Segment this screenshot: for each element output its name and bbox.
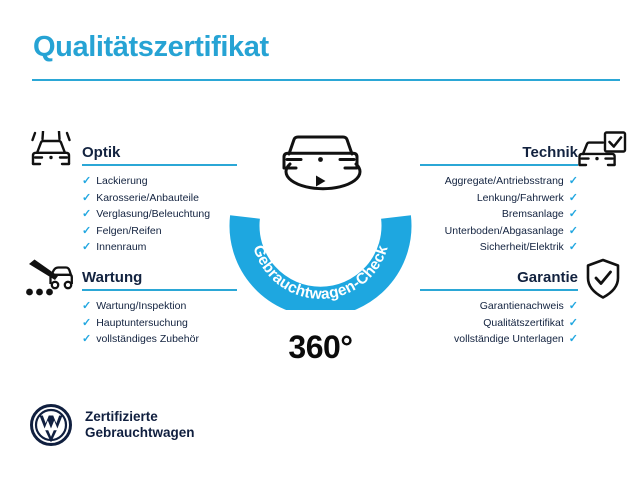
list-item: ✓Verglasung/Beleuchtung bbox=[82, 206, 237, 223]
list-item: ✓vollständige Unterlagen bbox=[420, 331, 578, 348]
check-icon: ✓ bbox=[82, 298, 91, 315]
section-wartung: Wartung ✓Wartung/Inspektion ✓Hauptunters… bbox=[82, 265, 237, 348]
section-optik-header: Optik bbox=[82, 140, 237, 166]
list-item: ✓vollständiges Zubehör bbox=[82, 331, 237, 348]
list-item: ✓Sicherheit/Elektrik bbox=[420, 239, 578, 256]
list-item-label: Wartung/Inspektion bbox=[96, 298, 186, 315]
section-garantie-list: ✓Garantienachweis ✓Qualitätszertifikat ✓… bbox=[420, 298, 578, 348]
car-lift-wrench-icon bbox=[25, 258, 73, 303]
list-item: ✓Garantienachweis bbox=[420, 298, 578, 315]
check-icon: ✓ bbox=[569, 173, 578, 190]
section-wartung-header: Wartung bbox=[82, 265, 237, 291]
section-technik-title: Technik bbox=[522, 144, 578, 161]
list-item: ✓Wartung/Inspektion bbox=[82, 298, 237, 315]
list-item-label: Sicherheit/Elektrik bbox=[480, 239, 564, 256]
section-technik-list: ✓Aggregate/Antriebsstrang ✓Lenkung/Fahrw… bbox=[420, 173, 578, 256]
list-item: ✓Karosserie/Anbauteile bbox=[82, 190, 237, 207]
check-icon: ✓ bbox=[82, 223, 91, 240]
list-item-label: Aggregate/Antriebsstrang bbox=[445, 173, 564, 190]
list-item: ✓Unterboden/Abgasanlage bbox=[420, 223, 578, 240]
check-icon: ✓ bbox=[82, 206, 91, 223]
check-icon: ✓ bbox=[569, 298, 578, 315]
list-item: ✓Hauptuntersuchung bbox=[82, 315, 237, 332]
check-icon: ✓ bbox=[569, 239, 578, 256]
check-icon: ✓ bbox=[82, 173, 91, 190]
section-wartung-divider bbox=[82, 289, 237, 291]
check-icon: ✓ bbox=[82, 315, 91, 332]
section-garantie-header: Garantie bbox=[420, 265, 578, 291]
section-optik-title: Optik bbox=[82, 144, 120, 161]
list-item-label: vollständige Unterlagen bbox=[454, 331, 564, 348]
section-technik-divider bbox=[420, 164, 578, 166]
list-item-label: Innenraum bbox=[96, 239, 146, 256]
shield-check-icon bbox=[585, 258, 621, 305]
check-icon: ✓ bbox=[569, 206, 578, 223]
list-item-label: vollständiges Zubehör bbox=[96, 331, 199, 348]
list-item-label: Verglasung/Beleuchtung bbox=[96, 206, 210, 223]
list-item-label: Unterboden/Abgasanlage bbox=[445, 223, 564, 240]
check-icon: ✓ bbox=[569, 190, 578, 207]
page-title: Qualitätszertifikat bbox=[33, 33, 269, 62]
check-icon: ✓ bbox=[569, 331, 578, 348]
vw-footer-line2: Gebrauchtwagen bbox=[85, 425, 195, 441]
list-item: ✓Lackierung bbox=[82, 173, 237, 190]
check-icon: ✓ bbox=[569, 315, 578, 332]
list-item-label: Qualitätszertifikat bbox=[483, 315, 564, 332]
list-item-label: Bremsanlage bbox=[502, 206, 564, 223]
section-technik-header: Technik bbox=[420, 140, 578, 166]
vw-footer-text: Zertifizierte Gebrauchtwagen bbox=[85, 409, 195, 441]
car-checkbox-icon bbox=[577, 131, 627, 178]
check-icon: ✓ bbox=[82, 331, 91, 348]
car-shine-icon bbox=[28, 131, 74, 178]
list-item: ✓Qualitätszertifikat bbox=[420, 315, 578, 332]
list-item-label: Garantienachweis bbox=[480, 298, 564, 315]
vw-footer-line1: Zertifizierte bbox=[85, 409, 195, 425]
section-optik: Optik ✓Lackierung ✓Karosserie/Anbauteile… bbox=[82, 140, 237, 256]
vw-certified-footer: Zertifizierte Gebrauchtwagen bbox=[30, 404, 195, 446]
section-wartung-title: Wartung bbox=[82, 269, 142, 286]
list-item: ✓Lenkung/Fahrwerk bbox=[420, 190, 578, 207]
section-wartung-list: ✓Wartung/Inspektion ✓Hauptuntersuchung ✓… bbox=[82, 298, 237, 348]
list-item-label: Lackierung bbox=[96, 173, 147, 190]
check-icon: ✓ bbox=[82, 239, 91, 256]
list-item: ✓Innenraum bbox=[82, 239, 237, 256]
list-item: ✓Bremsanlage bbox=[420, 206, 578, 223]
badge-360-gebrauchtwagen-check: Gebrauchtwagen-Check 360° bbox=[228, 120, 413, 310]
section-garantie-divider bbox=[420, 289, 578, 291]
title-divider bbox=[32, 79, 620, 81]
list-item-label: Lenkung/Fahrwerk bbox=[477, 190, 564, 207]
qualitaetszertifikat-page: Qualitätszertifikat bbox=[0, 0, 640, 480]
badge-number: 360° bbox=[228, 329, 413, 366]
section-optik-divider bbox=[82, 164, 237, 166]
list-item-label: Karosserie/Anbauteile bbox=[96, 190, 199, 207]
section-garantie-title: Garantie bbox=[517, 269, 578, 286]
vw-logo-icon bbox=[30, 404, 72, 446]
list-item: ✓Felgen/Reifen bbox=[82, 223, 237, 240]
list-item-label: Hauptuntersuchung bbox=[96, 315, 188, 332]
check-icon: ✓ bbox=[569, 223, 578, 240]
section-technik: Technik ✓Aggregate/Antriebsstrang ✓Lenku… bbox=[420, 140, 578, 256]
section-garantie: Garantie ✓Garantienachweis ✓Qualitätszer… bbox=[420, 265, 578, 348]
list-item: ✓Aggregate/Antriebsstrang bbox=[420, 173, 578, 190]
section-optik-list: ✓Lackierung ✓Karosserie/Anbauteile ✓Verg… bbox=[82, 173, 237, 256]
list-item-label: Felgen/Reifen bbox=[96, 223, 161, 240]
check-icon: ✓ bbox=[82, 190, 91, 207]
